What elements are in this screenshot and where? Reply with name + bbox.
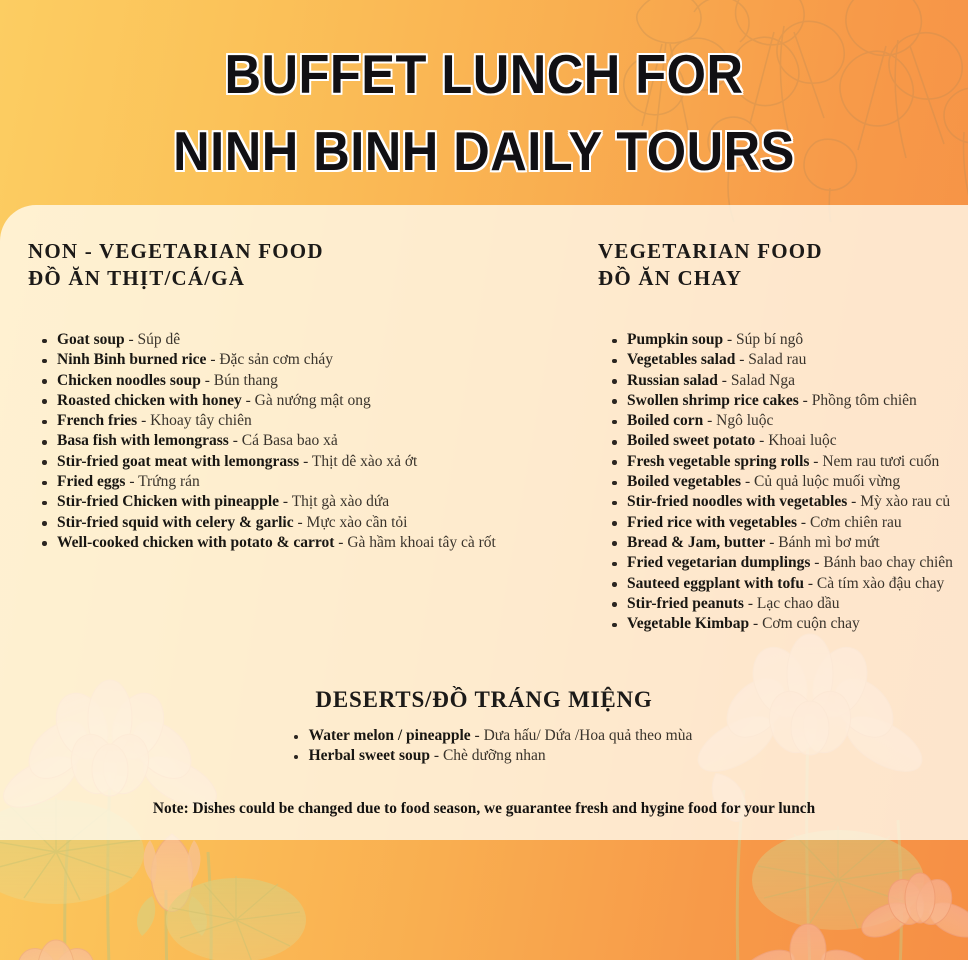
menu-item: Fried vegetarian dumplings - Bánh bao ch… bbox=[612, 553, 968, 573]
menu-item-name-en: Herbal sweet soup bbox=[309, 747, 430, 764]
menu-item-separator: - bbox=[804, 575, 817, 592]
menu-item: Well-cooked chicken with potato & carrot… bbox=[42, 533, 568, 553]
menu-item-separator: - bbox=[229, 432, 242, 449]
menu-item-name-vi: Cơm chiên rau bbox=[810, 514, 902, 531]
menu-item: Goat soup - Súp dê bbox=[42, 330, 568, 350]
menu-item: Herbal sweet soup - Chè dưỡng nhan bbox=[294, 746, 693, 766]
menu-item-separator: - bbox=[718, 372, 731, 389]
menu-item: Water melon / pineapple - Dưa hấu/ Dứa /… bbox=[294, 726, 693, 746]
menu-item-name-en: Pumpkin soup bbox=[627, 331, 723, 348]
menu-item-name-vi: Đặc sản cơm cháy bbox=[219, 351, 333, 368]
poster-title: BUFFET LUNCH FOR NINH BINH DAILY TOURS bbox=[0, 42, 968, 183]
menu-item-name-vi: Ngô luộc bbox=[716, 412, 773, 429]
vegetarian-list: Pumpkin soup - Súp bí ngôVegetables sala… bbox=[612, 330, 968, 634]
menu-item-name-en: Well-cooked chicken with potato & carrot bbox=[57, 534, 334, 551]
non-vegetarian-column: NON - VEGETARIAN FOOD ĐỒ ĂN THỊT/CÁ/GÀ G… bbox=[28, 238, 568, 553]
menu-item-name-en: Goat soup bbox=[57, 331, 125, 348]
menu-item-name-vi: Lạc chao dầu bbox=[757, 595, 840, 612]
menu-item-separator: - bbox=[279, 493, 292, 510]
menu-item: Vegetable Kimbap - Cơm cuộn chay bbox=[612, 614, 968, 634]
menu-item: French fries - Khoay tây chiên bbox=[42, 411, 568, 431]
menu-poster: BUFFET LUNCH FOR NINH BINH DAILY TOURS N… bbox=[0, 0, 968, 960]
menu-item-name-vi: Gà nướng mật ong bbox=[255, 392, 371, 409]
menu-item-name-vi: Bánh mì bơ mứt bbox=[778, 534, 879, 551]
menu-item: Ninh Binh burned rice - Đặc sản cơm cháy bbox=[42, 350, 568, 370]
menu-item-separator: - bbox=[299, 453, 312, 470]
menu-item-separator: - bbox=[755, 432, 768, 449]
menu-item: Stir-fried peanuts - Lạc chao dầu bbox=[612, 594, 968, 614]
menu-item: Fried eggs - Trứng rán bbox=[42, 472, 568, 492]
menu-item-name-vi: Củ quả luộc muối vừng bbox=[754, 473, 900, 490]
menu-item: Stir-fried noodles with vegetables - Mỳ … bbox=[612, 492, 968, 512]
menu-item: Sauteed eggplant with tofu - Cà tím xào … bbox=[612, 574, 968, 594]
menu-item-name-en: Fresh vegetable spring rolls bbox=[627, 453, 809, 470]
menu-item-name-en: Boiled vegetables bbox=[627, 473, 741, 490]
menu-item-separator: - bbox=[799, 392, 812, 409]
menu-item: Pumpkin soup - Súp bí ngô bbox=[612, 330, 968, 350]
menu-item-separator: - bbox=[334, 534, 347, 551]
menu-item-name-vi: Gà hầm khoai tây cà rốt bbox=[347, 534, 495, 551]
menu-item-name-vi: Cơm cuộn chay bbox=[762, 615, 860, 632]
menu-item-separator: - bbox=[735, 351, 748, 368]
menu-item-separator: - bbox=[847, 493, 860, 510]
vegetarian-column: VEGETARIAN FOOD ĐỒ ĂN CHAY Pumpkin soup … bbox=[598, 238, 968, 634]
menu-item-separator: - bbox=[749, 615, 762, 632]
menu-item-separator: - bbox=[430, 747, 443, 764]
menu-item-separator: - bbox=[797, 514, 810, 531]
menu-item-separator: - bbox=[206, 351, 219, 368]
menu-content: NON - VEGETARIAN FOOD ĐỒ ĂN THỊT/CÁ/GÀ G… bbox=[0, 205, 968, 840]
non-vegetarian-heading-vi: ĐỒ ĂN THỊT/CÁ/GÀ bbox=[28, 265, 568, 292]
menu-item-name-en: Vegetable Kimbap bbox=[627, 615, 749, 632]
menu-item-separator: - bbox=[201, 372, 214, 389]
menu-item-name-en: Stir-fried squid with celery & garlic bbox=[57, 514, 294, 531]
footer-note: Note: Dishes could be changed due to foo… bbox=[19, 800, 948, 818]
menu-item: Fresh vegetable spring rolls - Nem rau t… bbox=[612, 452, 968, 472]
menu-item-name-vi: Khoai luộc bbox=[768, 432, 836, 449]
menu-item-name-vi: Thịt dê xào xả ớt bbox=[312, 453, 417, 470]
menu-item-name-vi: Khoay tây chiên bbox=[150, 412, 252, 429]
menu-item-name-en: Sauteed eggplant with tofu bbox=[627, 575, 804, 592]
menu-item: Boiled sweet potato - Khoai luộc bbox=[612, 431, 968, 451]
menu-item-separator: - bbox=[471, 727, 484, 744]
menu-item-separator: - bbox=[125, 331, 138, 348]
menu-item-separator: - bbox=[744, 595, 757, 612]
menu-item: Stir-fried squid with celery & garlic - … bbox=[42, 513, 568, 533]
desserts-list: Water melon / pineapple - Dưa hấu/ Dứa /… bbox=[294, 726, 693, 767]
menu-item-name-en: French fries bbox=[57, 412, 137, 429]
menu-item-separator: - bbox=[741, 473, 754, 490]
menu-item-name-en: Stir-fried peanuts bbox=[627, 595, 744, 612]
menu-item-name-en: Swollen shrimp rice cakes bbox=[627, 392, 799, 409]
desserts-section: DESERTS/ĐỒ TRÁNG MIỆNG Water melon / pin… bbox=[0, 687, 968, 767]
menu-item-name-en: Stir-fried Chicken with pineapple bbox=[57, 493, 279, 510]
menu-item-separator: - bbox=[765, 534, 778, 551]
desserts-heading: DESERTS/ĐỒ TRÁNG MIỆNG bbox=[0, 687, 968, 713]
menu-item-name-vi: Chè dưỡng nhan bbox=[443, 747, 546, 764]
menu-item: Chicken noodles soup - Bún thang bbox=[42, 371, 568, 391]
menu-item-name-en: Basa fish with lemongrass bbox=[57, 432, 229, 449]
menu-item-separator: - bbox=[137, 412, 150, 429]
menu-item-name-en: Fried rice with vegetables bbox=[627, 514, 797, 531]
menu-item-separator: - bbox=[294, 514, 307, 531]
menu-item-separator: - bbox=[810, 554, 823, 571]
menu-item: Boiled corn - Ngô luộc bbox=[612, 411, 968, 431]
title-line-2: NINH BINH DAILY TOURS bbox=[39, 119, 930, 183]
menu-item-name-en: Fried vegetarian dumplings bbox=[627, 554, 810, 571]
menu-item: Stir-fried goat meat with lemongrass - T… bbox=[42, 452, 568, 472]
vegetarian-heading-en: VEGETARIAN FOOD bbox=[598, 238, 968, 265]
title-line-1: BUFFET LUNCH FOR bbox=[39, 42, 930, 106]
menu-item-name-en: Fried eggs bbox=[57, 473, 125, 490]
menu-item-name-vi: Trứng rán bbox=[138, 473, 200, 490]
menu-item-name-vi: Súp dê bbox=[138, 331, 181, 348]
menu-item-name-en: Chicken noodles soup bbox=[57, 372, 201, 389]
menu-item-name-vi: Mỳ xào rau củ bbox=[860, 493, 950, 510]
menu-item-separator: - bbox=[703, 412, 716, 429]
menu-item-separator: - bbox=[723, 331, 736, 348]
menu-item-name-vi: Thịt gà xào dứa bbox=[292, 493, 390, 510]
menu-item-name-vi: Cà tím xào đậu chay bbox=[817, 575, 944, 592]
menu-item-name-en: Stir-fried noodles with vegetables bbox=[627, 493, 847, 510]
non-vegetarian-heading-en: NON - VEGETARIAN FOOD bbox=[28, 238, 568, 265]
menu-item-name-en: Stir-fried goat meat with lemongrass bbox=[57, 453, 299, 470]
non-vegetarian-list: Goat soup - Súp dêNinh Binh burned rice … bbox=[42, 330, 568, 553]
menu-item-name-en: Bread & Jam, butter bbox=[627, 534, 765, 551]
menu-item-name-vi: Bún thang bbox=[214, 372, 278, 389]
menu-item: Basa fish with lemongrass - Cá Basa bao … bbox=[42, 431, 568, 451]
menu-item-name-vi: Cá Basa bao xả bbox=[242, 432, 338, 449]
menu-item-name-vi: Salad Nga bbox=[731, 372, 795, 389]
menu-item-separator: - bbox=[809, 453, 822, 470]
menu-item: Fried rice with vegetables - Cơm chiên r… bbox=[612, 513, 968, 533]
menu-item-separator: - bbox=[242, 392, 255, 409]
menu-item-name-en: Ninh Binh burned rice bbox=[57, 351, 206, 368]
menu-item-name-vi: Phồng tôm chiên bbox=[812, 392, 917, 409]
menu-item-name-vi: Bánh bao chay chiên bbox=[823, 554, 953, 571]
menu-item-name-en: Boiled corn bbox=[627, 412, 703, 429]
menu-item-name-vi: Salad rau bbox=[748, 351, 806, 368]
menu-item: Vegetables salad - Salad rau bbox=[612, 350, 968, 370]
menu-item: Stir-fried Chicken with pineapple - Thịt… bbox=[42, 492, 568, 512]
menu-item-name-en: Boiled sweet potato bbox=[627, 432, 755, 449]
menu-item: Russian salad - Salad Nga bbox=[612, 371, 968, 391]
menu-item: Bread & Jam, butter - Bánh mì bơ mứt bbox=[612, 533, 968, 553]
menu-item-separator: - bbox=[125, 473, 138, 490]
menu-item: Swollen shrimp rice cakes - Phồng tôm ch… bbox=[612, 391, 968, 411]
menu-item-name-vi: Súp bí ngô bbox=[736, 331, 803, 348]
menu-item-name-en: Roasted chicken with honey bbox=[57, 392, 242, 409]
menu-item-name-vi: Dưa hấu/ Dứa /Hoa quả theo mùa bbox=[484, 727, 693, 744]
menu-item-name-en: Vegetables salad bbox=[627, 351, 735, 368]
menu-item-name-en: Water melon / pineapple bbox=[309, 727, 471, 744]
menu-item-name-vi: Nem rau tươi cuốn bbox=[822, 453, 939, 470]
menu-item: Roasted chicken with honey - Gà nướng mậ… bbox=[42, 391, 568, 411]
menu-item-name-en: Russian salad bbox=[627, 372, 718, 389]
menu-item: Boiled vegetables - Củ quả luộc muối vừn… bbox=[612, 472, 968, 492]
vegetarian-heading-vi: ĐỒ ĂN CHAY bbox=[598, 265, 968, 292]
menu-item-name-vi: Mực xào cần tỏi bbox=[307, 514, 408, 531]
